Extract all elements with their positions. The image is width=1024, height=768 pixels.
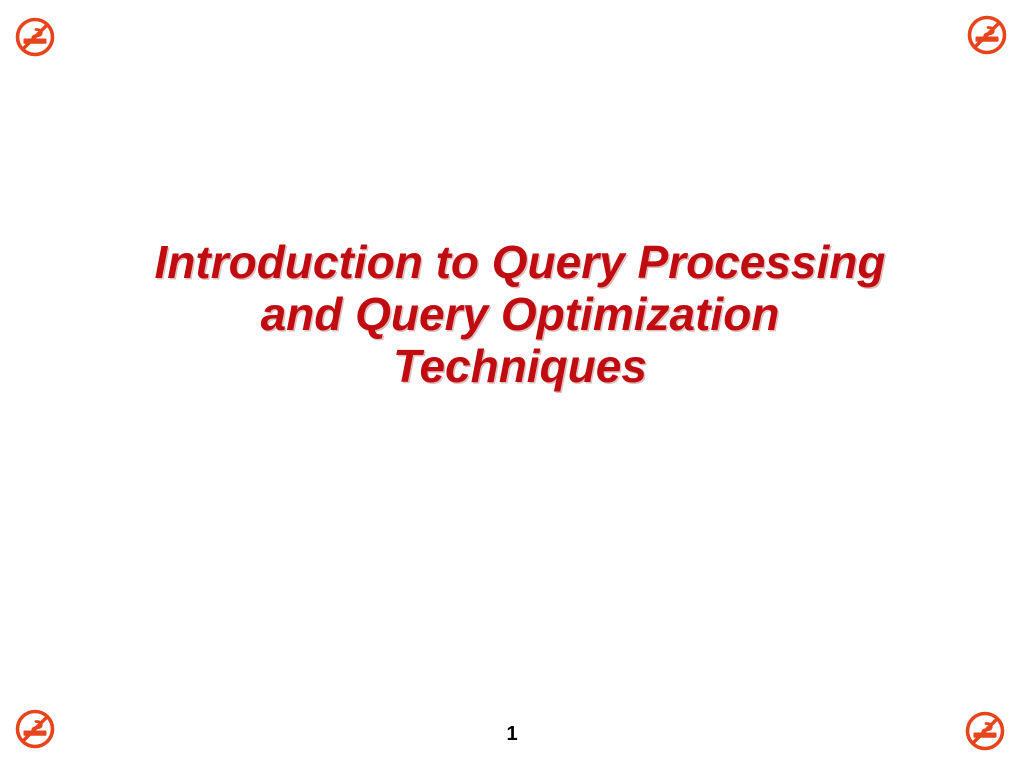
slide-title-line-3: Techniques <box>100 340 940 392</box>
presentation-slide: Introduction to Query Processing and Que… <box>0 0 1024 768</box>
no-smoking-icon <box>966 14 1008 56</box>
page-number: 1 <box>0 722 1024 746</box>
slide-title: Introduction to Query Processing and Que… <box>100 236 940 392</box>
no-smoking-icon <box>14 16 56 58</box>
slide-title-line-2: and Query Optimization <box>100 288 940 340</box>
slide-title-line-1: Introduction to Query Processing <box>100 236 940 288</box>
